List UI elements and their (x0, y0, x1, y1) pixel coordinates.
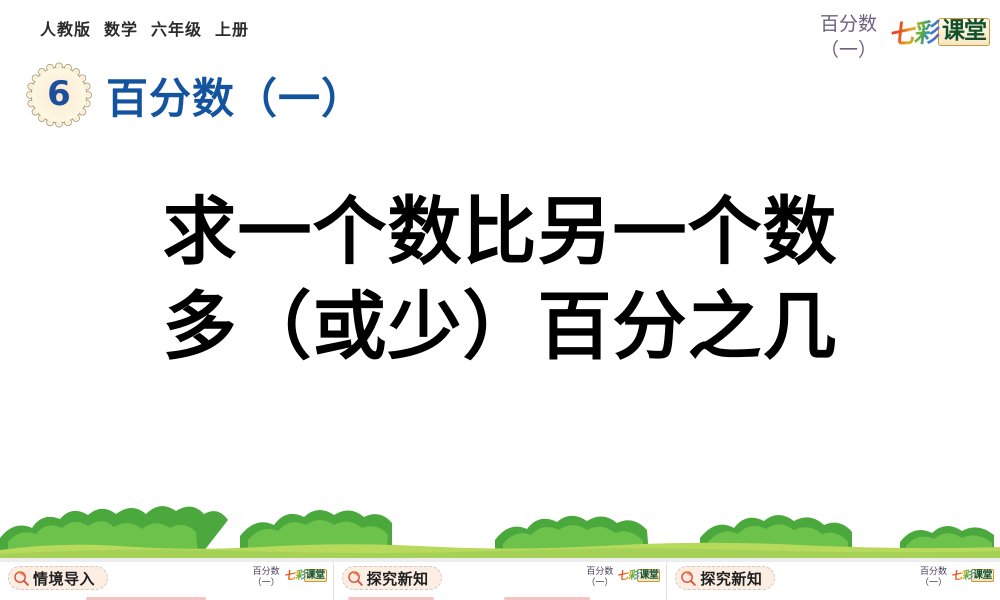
nav-tab-qingjingdaoru[interactable]: 情境导入 (8, 566, 108, 590)
footer-bar: 情境导入 百分数 （一） 七彩 课堂 (0, 562, 1000, 600)
panel-brand: 百分数 （一） 七彩 课堂 (920, 566, 994, 589)
panel-logo-ketang: 课堂 (971, 569, 994, 582)
corner-brand: 百分数 （一） 七彩 课堂 (820, 12, 990, 63)
panel-brand: 百分数 （一） 七彩 课堂 (586, 566, 660, 589)
edition-grade: 六年级 (151, 22, 202, 39)
panel-unit-line1: 百分数 (586, 566, 613, 576)
magnifier-icon (347, 570, 364, 587)
corner-unit-line2: （一） (820, 38, 877, 64)
footer-panel: 探究新知 百分数 （一） 七彩 课堂 (667, 562, 1000, 600)
slide-root: 人教版数学六年级上册 (0, 0, 1000, 600)
panel-unit-line2: （一） (920, 577, 947, 588)
edition-volume: 上册 (215, 22, 249, 39)
panel-brand-logo: 七彩 课堂 (618, 567, 660, 583)
corner-unit-label: 百分数 （一） (820, 12, 877, 63)
grass-illustration (0, 476, 1000, 562)
magnifier-icon (13, 570, 30, 587)
panel-unit-label: 百分数 （一） (253, 566, 280, 589)
nav-tab-tanjiuxinzhi[interactable]: 探究新知 (342, 566, 442, 590)
page-title: 求一个数比另一个数 多（或少）百分之几 (0, 186, 1000, 375)
edition-line: 人教版数学六年级上册 (40, 16, 249, 40)
nav-tab-label: 探究新知 (367, 568, 429, 589)
panel-unit-label: 百分数 （一） (586, 566, 613, 589)
corner-unit-line1: 百分数 (820, 14, 877, 35)
edition-publisher: 人教版 (40, 22, 91, 39)
panel-unit-label: 百分数 （一） (920, 566, 947, 589)
nav-tab-tanjiuxinzhi-2[interactable]: 探究新知 (675, 566, 775, 590)
chapter-heading: 6 百分数（一） (26, 62, 364, 128)
brand-logo-qicai: 七彩 (889, 13, 944, 52)
panel-brand: 百分数 （一） 七彩 课堂 (253, 566, 327, 589)
chapter-number-badge: 6 (26, 62, 92, 128)
grass-scenery (0, 476, 1000, 562)
panel-unit-line2: （一） (253, 577, 280, 588)
page-title-line2: 多（或少）百分之几 (0, 281, 1000, 376)
panel-logo-qicai: 七彩 (951, 566, 974, 583)
panel-brand-logo: 七彩 课堂 (285, 567, 327, 583)
panel-logo-ketang: 课堂 (637, 569, 660, 582)
panel-unit-line1: 百分数 (920, 566, 947, 576)
nav-tab-label: 情境导入 (33, 568, 95, 589)
edition-subject: 数学 (104, 22, 138, 39)
page-title-line1: 求一个数比另一个数 (0, 186, 1000, 281)
footer-panel: 情境导入 百分数 （一） 七彩 课堂 (0, 562, 334, 600)
panel-unit-line1: 百分数 (253, 566, 280, 576)
panel-logo-qicai: 七彩 (284, 566, 307, 583)
chapter-title: 百分数（一） (106, 65, 364, 126)
chapter-number: 6 (26, 62, 92, 128)
panel-brand-logo: 七彩 课堂 (952, 567, 994, 583)
footer-panel: 探究新知 百分数 （一） 七彩 课堂 (334, 562, 668, 600)
nav-tab-label: 探究新知 (700, 568, 762, 589)
brand-logo: 七彩 课堂 (891, 14, 990, 50)
panel-logo-ketang: 课堂 (304, 569, 327, 582)
magnifier-icon (680, 570, 697, 587)
panel-logo-qicai: 七彩 (617, 566, 640, 583)
brand-logo-ketang: 课堂 (938, 18, 990, 47)
panel-unit-line2: （一） (586, 577, 613, 588)
